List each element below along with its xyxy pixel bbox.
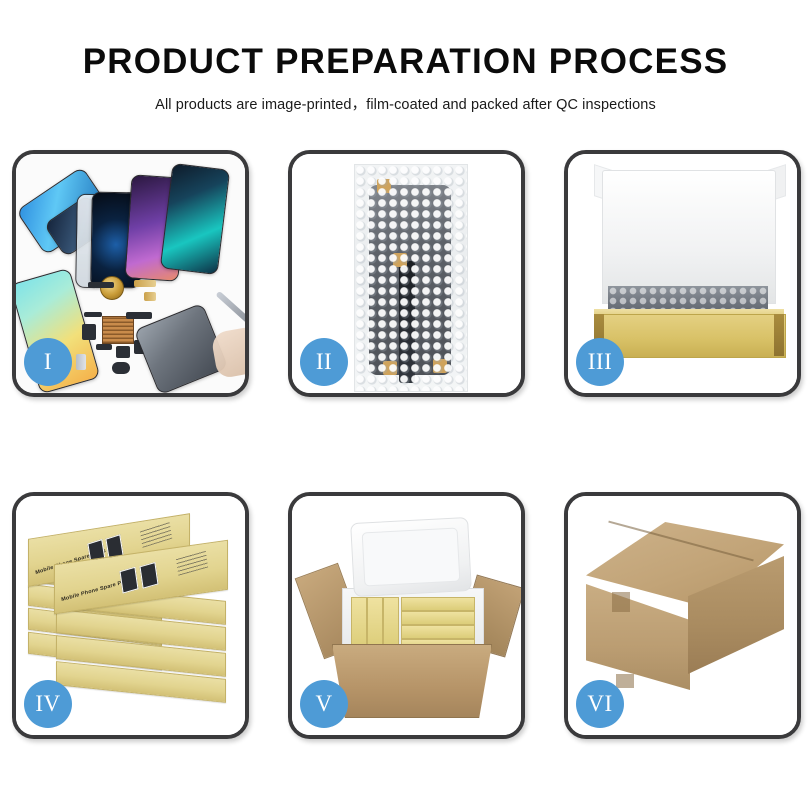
sim-tray-part-icon [76, 354, 86, 370]
step-panel-2: II Screen assembly sealed in bubble wrap [288, 150, 525, 397]
speaker-bar-part-icon [88, 282, 114, 288]
box-spec-lines-icon [176, 550, 208, 576]
step-panel-6: VI Sealed shipping carton ready for disp… [564, 492, 801, 739]
ribbon-cable-part-icon [126, 312, 152, 319]
flex-cable-part-icon [84, 312, 102, 317]
white-box-lid-icon [602, 170, 776, 304]
step-badge-6: VI [576, 680, 624, 728]
foam-lid-icon [350, 517, 472, 597]
camera-module-part-icon [82, 324, 96, 340]
copper-mesh-icon [102, 316, 134, 344]
carton-tape-upper-icon [612, 592, 630, 612]
box-spec-lines-icon [140, 521, 172, 548]
step-badge-5: V [300, 680, 348, 728]
packed-box-icon [351, 597, 367, 649]
page-title: PRODUCT PREPARATION PROCESS [0, 44, 811, 81]
packed-box-icon [401, 625, 475, 639]
bubble-wrap-bag-icon [354, 164, 468, 392]
phone-screen-teal-icon [160, 163, 230, 275]
foam-lid-recess-icon [362, 528, 461, 587]
step-panel-5: V Boxes packed into carton with foam lin… [288, 492, 525, 739]
gold-bracket-part-icon [144, 292, 156, 301]
step-badge-2: II [300, 338, 348, 386]
antenna-part-icon [96, 344, 112, 350]
process-steps-grid: I Mobile phone screens, displays and spa… [12, 150, 801, 736]
carton-body-icon [332, 644, 492, 718]
box-window-screen-icon [119, 567, 138, 594]
product-preparation-page: PRODUCT PREPARATION PROCESS All products… [0, 0, 811, 811]
gold-flex-part-icon [134, 280, 156, 287]
earpiece-part-icon [112, 362, 130, 374]
box-window-screen-icon [139, 562, 158, 589]
page-subtitle: All products are image-printed，film-coat… [0, 93, 811, 114]
tray-corner-right-icon [774, 314, 784, 356]
page-header: PRODUCT PREPARATION PROCESS All products… [0, 44, 811, 114]
packed-box-icon [401, 611, 475, 625]
carton-front-face-icon [586, 584, 690, 690]
step-panel-1: I Mobile phone screens, displays and spa… [12, 150, 249, 397]
packed-box-icon [367, 597, 383, 649]
speaker-coil-icon [100, 276, 124, 300]
packed-box-icon [401, 597, 475, 611]
packed-box-icon [383, 597, 399, 649]
step-badge-1: I [24, 338, 72, 386]
step-panel-3: III Wrapped item placed in kraft box wit… [564, 150, 801, 397]
tweezers-icon [215, 291, 245, 324]
step-badge-4: IV [24, 680, 72, 728]
carton-tape-lower-icon [616, 674, 634, 688]
bubble-texture-icon [355, 165, 467, 391]
vibrator-part-icon [116, 346, 130, 358]
kraft-box-tray-icon [594, 314, 786, 358]
step-badge-3: III [576, 338, 624, 386]
step-panel-4: Mobile Phone Spare Parts Mobile Phone Sp… [12, 492, 249, 739]
